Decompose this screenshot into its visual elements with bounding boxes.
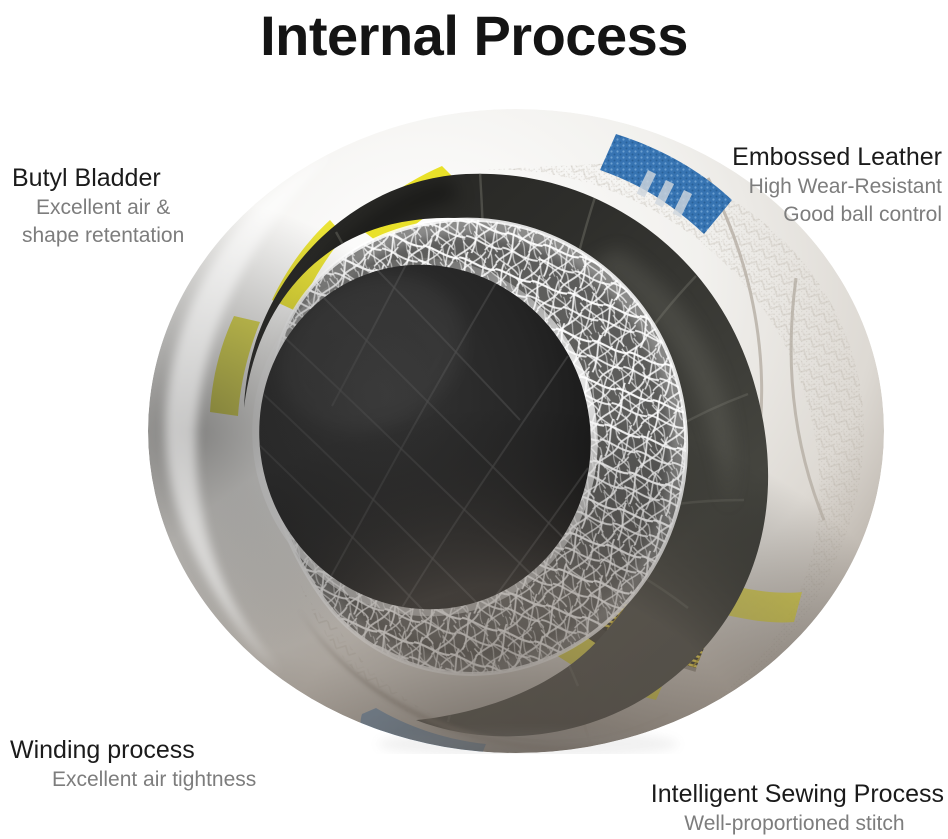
callout-heading: Butyl Bladder: [12, 163, 184, 194]
callout-subline-2: shape retentation: [12, 222, 184, 250]
page-title: Internal Process: [0, 2, 948, 70]
callout-heading: Intelligent Sewing Process: [651, 779, 944, 810]
callout-butyl-bladder: Butyl Bladder Excellent air & shape rete…: [12, 163, 184, 250]
internal-process-infographic: Internal Process: [0, 0, 948, 839]
callout-subline-1: High Wear-Resistant: [732, 173, 942, 201]
callout-subline-1: Excellent air &: [12, 194, 184, 222]
callout-winding-process: Winding process Excellent air tightness: [10, 735, 256, 794]
callout-heading: Embossed Leather: [732, 142, 942, 173]
callout-embossed-leather: Embossed Leather High Wear-Resistant Goo…: [732, 142, 942, 229]
callout-subline-2: Good ball control: [732, 201, 942, 229]
callout-sewing-process: Intelligent Sewing Process Well-proporti…: [651, 779, 944, 838]
callout-subline-1: Excellent air tightness: [10, 766, 256, 794]
callout-subline-1: Well-proportioned stitch: [651, 810, 944, 838]
callout-heading: Winding process: [10, 735, 256, 766]
